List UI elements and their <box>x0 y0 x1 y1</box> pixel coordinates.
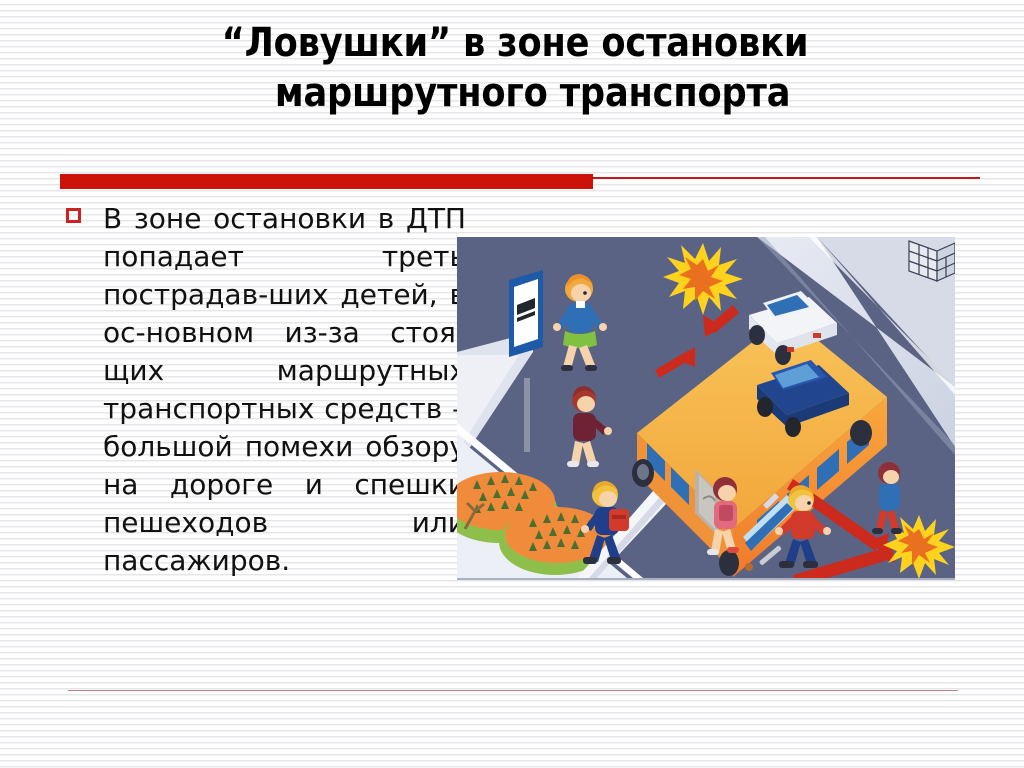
bullet-list-item: В зоне остановки в ДТП попадает треть по… <box>66 200 466 580</box>
title-line-2: маршрутного транспорта <box>115 68 916 118</box>
title-line-1: “Ловушки” в зоне остановки <box>115 18 916 68</box>
divider-thick-bar <box>60 174 593 189</box>
bullet-text: В зоне остановки в ДТП попадает треть по… <box>103 200 466 580</box>
title-divider <box>60 170 980 188</box>
hollow-red-square-bullet-icon <box>66 208 81 223</box>
road-scene-illustration <box>457 237 955 578</box>
illustration-bottom-edge <box>457 578 955 580</box>
page-title: “Ловушки” в зоне остановки маршрутного т… <box>60 18 970 118</box>
slide: “Ловушки” в зоне остановки маршрутного т… <box>0 0 1024 768</box>
footer-rule <box>68 690 958 691</box>
